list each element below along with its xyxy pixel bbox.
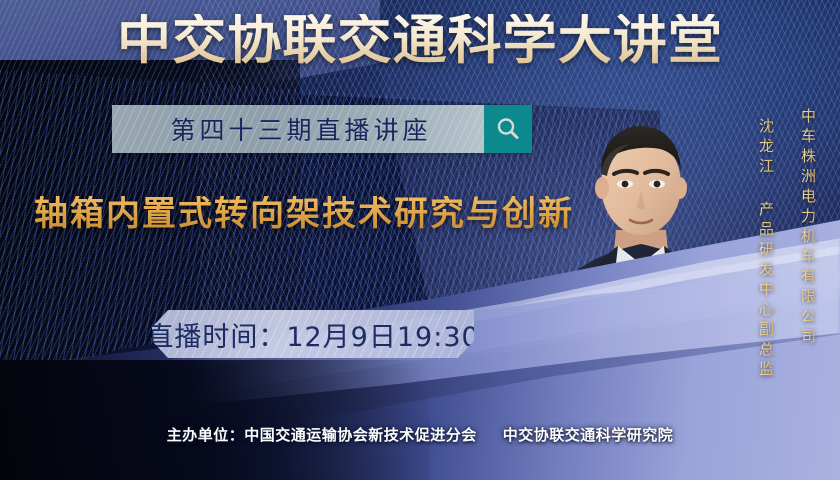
search-icon — [495, 116, 521, 142]
broadcast-time-badge: 直播时间：12月9日19:30 — [152, 310, 474, 358]
footer-organizer-2: 中交协联交通科学研究院 — [503, 426, 674, 444]
session-banner-text-area: 第四十三期直播讲座 — [112, 105, 484, 153]
search-icon-box[interactable] — [484, 105, 532, 153]
footer-organizer-label: 主办单位： — [167, 426, 245, 444]
footer-organizers: 主办单位：中国交通运输协会新技术促进分会中交协联交通科学研究院 — [0, 424, 840, 445]
speaker-company: 中车株洲电力机车有限公司 — [799, 108, 816, 348]
session-label: 第四十三期直播讲座 — [164, 111, 431, 147]
bottom-left-shadow — [0, 360, 430, 480]
livestream-poster: 中交协联交通科学大讲堂 第四十三期直播讲座 轴箱内置式转向架技术研究与创新 直播… — [0, 0, 840, 480]
footer-organizer-1: 中国交通运输协会新技术促进分会 — [244, 426, 477, 444]
speaker-name-role: 沈龙江 产品研发中心副总监 — [757, 118, 774, 381]
page-title: 中交协联交通科学大讲堂 — [0, 14, 840, 67]
session-banner: 第四十三期直播讲座 — [112, 105, 532, 153]
broadcast-time-text: 直播时间：12月9日19:30 — [146, 315, 479, 354]
topic-title: 轴箱内置式转向架技术研究与创新 — [34, 196, 574, 233]
